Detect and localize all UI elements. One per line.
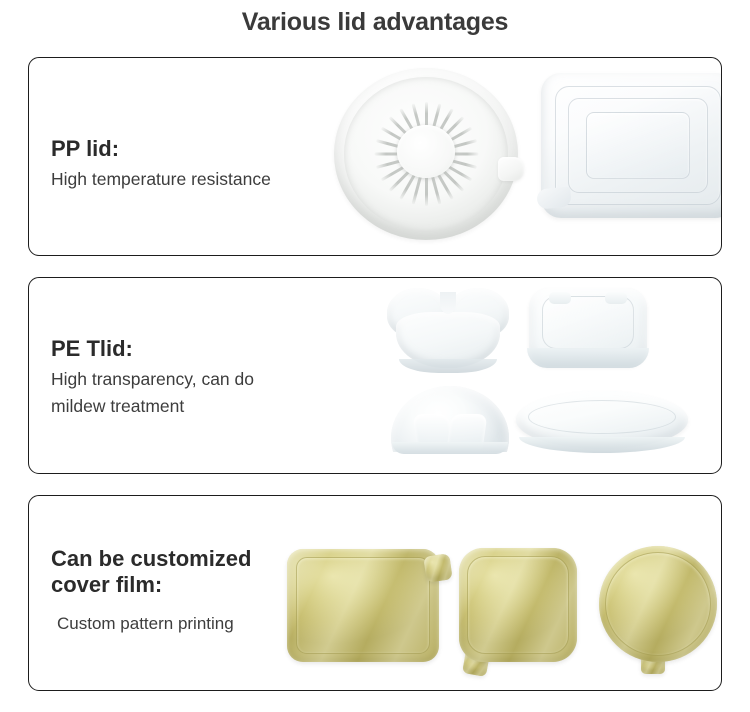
- card-pp-lid-description: High temperature resistance: [51, 166, 271, 193]
- pp-lid-center-hub: [397, 125, 456, 178]
- card-pe-lid: PE Tlid: High transparency, can do milde…: [28, 277, 722, 474]
- card-cover-film-description: Custom pattern printing: [51, 611, 251, 637]
- card-cover-film-text-block: Can be customized cover film: Custom pat…: [51, 546, 251, 637]
- rectangular-pp-lid-image: [541, 73, 722, 218]
- pe-square-nub-right: [605, 292, 627, 304]
- pe-heart-base-rim: [399, 359, 497, 373]
- card-pe-lid-description: High transparency, can do mildew treatme…: [51, 366, 254, 420]
- card-pe-lid-text-block: PE Tlid: High transparency, can do milde…: [51, 336, 254, 420]
- round-ribbed-pp-lid-image: [334, 68, 518, 240]
- gold-rect-inner-border: [296, 557, 430, 654]
- heart-shaped-pe-lid-image: [387, 288, 509, 370]
- gold-round-cover-film-image: [599, 546, 717, 662]
- pe-square-skirt: [527, 348, 649, 368]
- pe-square-nub-left: [549, 292, 571, 304]
- gold-square-inner-border: [467, 556, 569, 654]
- pe-heart-notch: [440, 292, 456, 314]
- card-cover-film-heading: Can be customized cover film:: [51, 546, 251, 597]
- gold-rectangular-cover-film-image: [287, 549, 439, 662]
- square-dome-pe-lid-image: [529, 288, 647, 366]
- pe-dome-lip: [392, 442, 508, 454]
- card-cover-film: Can be customized cover film: Custom pat…: [28, 495, 722, 691]
- pe-oval-ring: [528, 400, 676, 434]
- pp-rect-lid-ridge-inner: [586, 112, 691, 179]
- gold-rect-tab: [423, 553, 452, 582]
- gold-round-inner-border: [605, 552, 711, 656]
- dome-pe-lid-image: [391, 386, 509, 452]
- oval-pe-lid-image: [516, 391, 688, 449]
- card-pp-lid: PP lid: High temperature resistance: [28, 57, 722, 256]
- page-title: Various lid advantages: [0, 8, 750, 37]
- pp-lid-pull-tab: [498, 157, 524, 181]
- gold-square-cover-film-image: [459, 548, 577, 662]
- pe-oval-skirt: [519, 437, 684, 453]
- card-pp-lid-heading: PP lid:: [51, 136, 271, 162]
- gold-rect-tab-sheen: [423, 553, 452, 582]
- card-pe-lid-heading: PE Tlid:: [51, 336, 254, 362]
- card-pp-lid-text-block: PP lid: High temperature resistance: [51, 136, 271, 193]
